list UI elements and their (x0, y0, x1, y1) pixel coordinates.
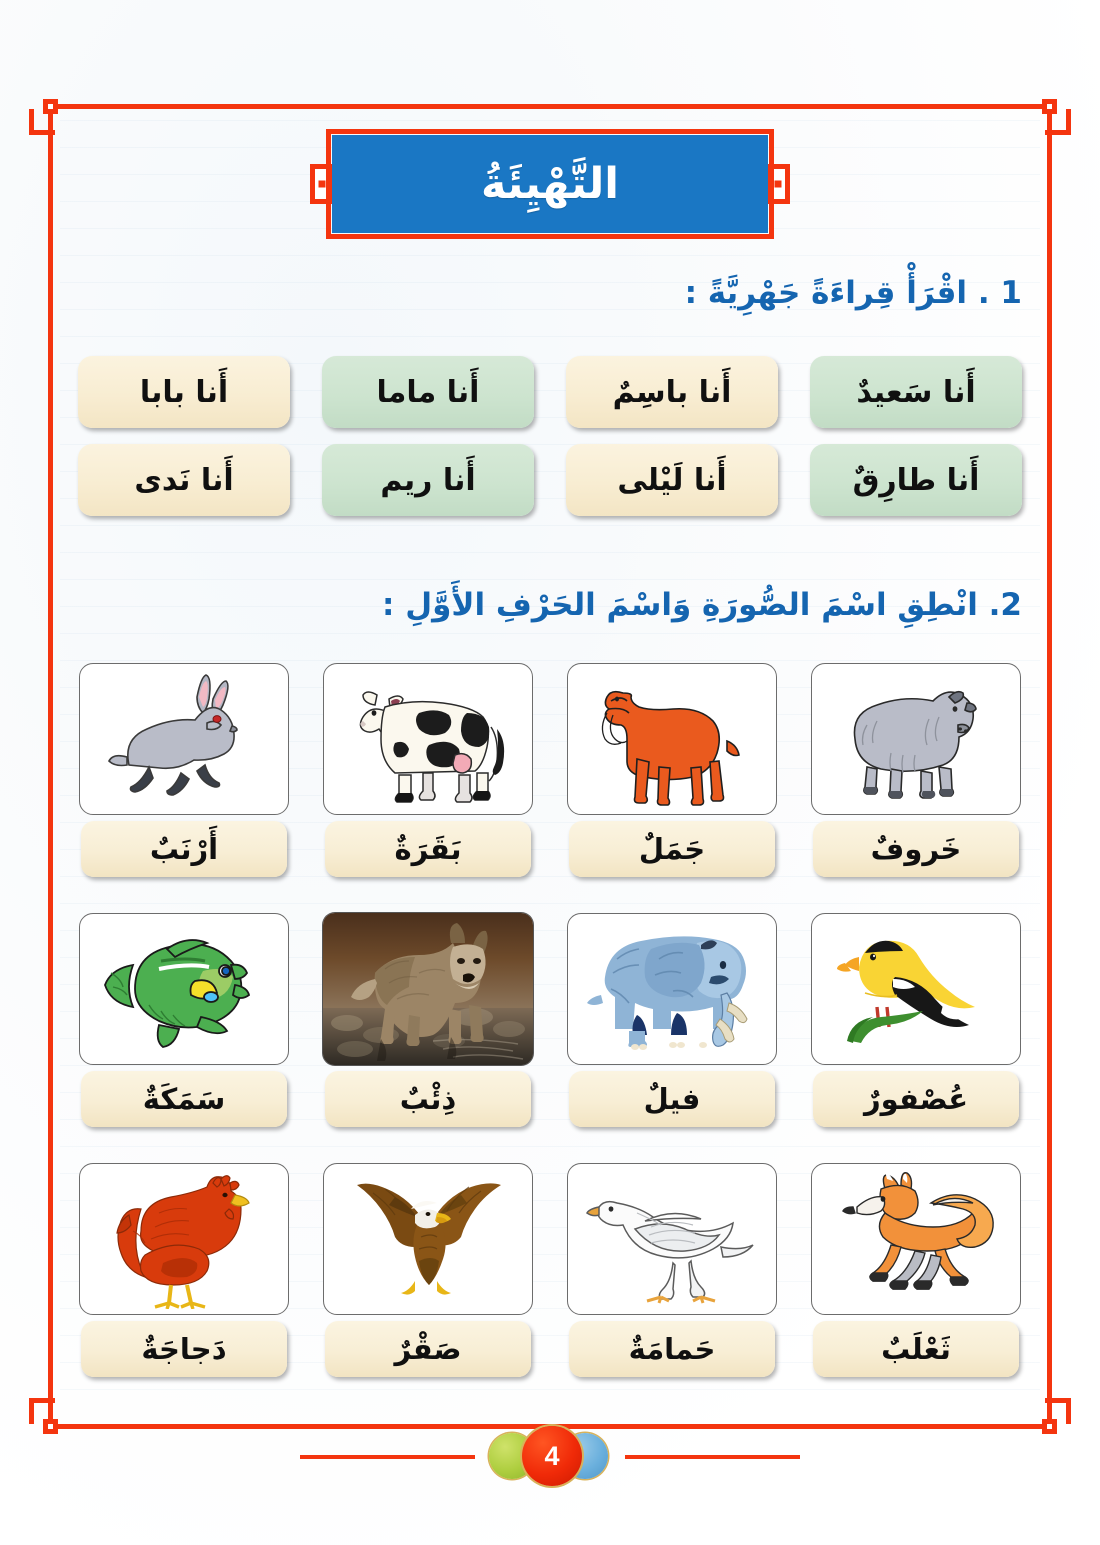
exercise-2-prompt: 2. انْطِقِ اسْمَ الصُّورَةِ وَاسْمَ الحَ… (382, 587, 1022, 623)
cow-icon (333, 669, 523, 809)
picture-frame (811, 913, 1021, 1065)
picture-label: دَجاجَةٌ (81, 1321, 287, 1377)
picture-frame (79, 663, 289, 815)
picture-frame (323, 663, 533, 815)
picture-label: جَمَلٌ (569, 821, 775, 877)
picture-frame (811, 663, 1021, 815)
picture-label: خَروفٌ (813, 821, 1019, 877)
picture-card[interactable]: صَقْرٌ (322, 1163, 534, 1377)
rabbit-icon (89, 669, 279, 809)
picture-frame (567, 1163, 777, 1315)
workbook-page: التَّهْيِئَةُ 1 . اقْرَأْ قِراءَةً جَهْر… (0, 0, 1100, 1545)
border-corner-top-left (29, 85, 75, 131)
sheep-icon (821, 669, 1011, 809)
page-title: التَّهْيِئَةُ (481, 163, 619, 206)
picture-frame (79, 913, 289, 1065)
picture-label: بَقَرَةٌ (325, 821, 531, 877)
picture-label: فيلٌ (569, 1071, 775, 1127)
picture-frame (567, 663, 777, 815)
footer-rule-left (300, 1455, 475, 1459)
picture-card[interactable]: عُصْفورٌ (810, 913, 1022, 1127)
fox-icon (821, 1169, 1011, 1309)
picture-label: سَمَكَةٌ (81, 1071, 287, 1127)
phrase-pill[interactable]: أَنا باسِمٌ (566, 356, 778, 428)
picture-label: صَقْرٌ (325, 1321, 531, 1377)
picture-card[interactable]: ذِئْبٌ (322, 913, 534, 1127)
picture-label: عُصْفورٌ (813, 1071, 1019, 1127)
falcon-icon (333, 1169, 523, 1309)
picture-label: حَمامَةٌ (569, 1321, 775, 1377)
phrase-pill[interactable]: أَنا لَيْلى (566, 444, 778, 516)
picture-frame (323, 913, 533, 1065)
phrase-pill[interactable]: أَنا سَعيدٌ (810, 356, 1022, 428)
phrase-pill[interactable]: أَنا نَدى (78, 444, 290, 516)
picture-card[interactable]: خَروفٌ (810, 663, 1022, 877)
picture-frame (323, 1163, 533, 1315)
phrase-row-2: أَنا نَدى أَنا ريم أَنا لَيْلى أَنا طارِ… (78, 444, 1022, 516)
dove-icon (577, 1169, 767, 1309)
phrase-pill[interactable]: أَنا ريم (322, 444, 534, 516)
picture-label: ثَعْلَبٌ (813, 1321, 1019, 1377)
elephant-icon (577, 919, 767, 1059)
sparrow-icon (821, 919, 1011, 1059)
picture-label: ذِئْبٌ (325, 1071, 531, 1127)
picture-card[interactable]: دَجاجَةٌ (78, 1163, 290, 1377)
picture-label: أَرْنَبٌ (81, 821, 287, 877)
exercise-1-prompt: 1 . اقْرَأْ قِراءَةً جَهْرِيَّةً : (685, 275, 1022, 311)
picture-row-2: سَمَكَةٌ (78, 913, 1022, 1127)
fish-icon (89, 919, 279, 1059)
picture-frame (811, 1163, 1021, 1315)
wolf-photo (323, 913, 533, 1065)
page-number-badge: 4 (522, 1426, 582, 1486)
phrase-pill[interactable]: أَنا بابا (78, 356, 290, 428)
page-number: 4 (544, 1441, 559, 1472)
picture-card[interactable]: ثَعْلَبٌ (810, 1163, 1022, 1377)
camel-icon (577, 669, 767, 809)
picture-frame (79, 1163, 289, 1315)
hen-icon (89, 1169, 279, 1309)
banner-fill: التَّهْيِئَةُ (332, 135, 768, 233)
border-corner-top-right (1025, 85, 1071, 131)
picture-frame (567, 913, 777, 1065)
picture-card[interactable]: أَرْنَبٌ (78, 663, 290, 877)
phrase-pill[interactable]: أَنا ماما (322, 356, 534, 428)
title-banner: التَّهْيِئَةُ (310, 125, 790, 243)
page-footer: 4 (0, 1408, 1100, 1504)
picture-card[interactable]: سَمَكَةٌ (78, 913, 290, 1127)
picture-card[interactable]: جَمَلٌ (566, 663, 778, 877)
footer-rule-right (625, 1455, 800, 1459)
picture-row-3: دَجاجَةٌ (78, 1163, 1022, 1377)
picture-card[interactable]: بَقَرَةٌ (322, 663, 534, 877)
phrase-pill[interactable]: أَنا طارِقٌ (810, 444, 1022, 516)
picture-card[interactable]: فيلٌ (566, 913, 778, 1127)
picture-row-1: أَرْنَبٌ (78, 663, 1022, 877)
phrase-row-1: أَنا بابا أَنا ماما أَنا باسِمٌ أَنا سَع… (78, 356, 1022, 428)
picture-card[interactable]: حَمامَةٌ (566, 1163, 778, 1377)
